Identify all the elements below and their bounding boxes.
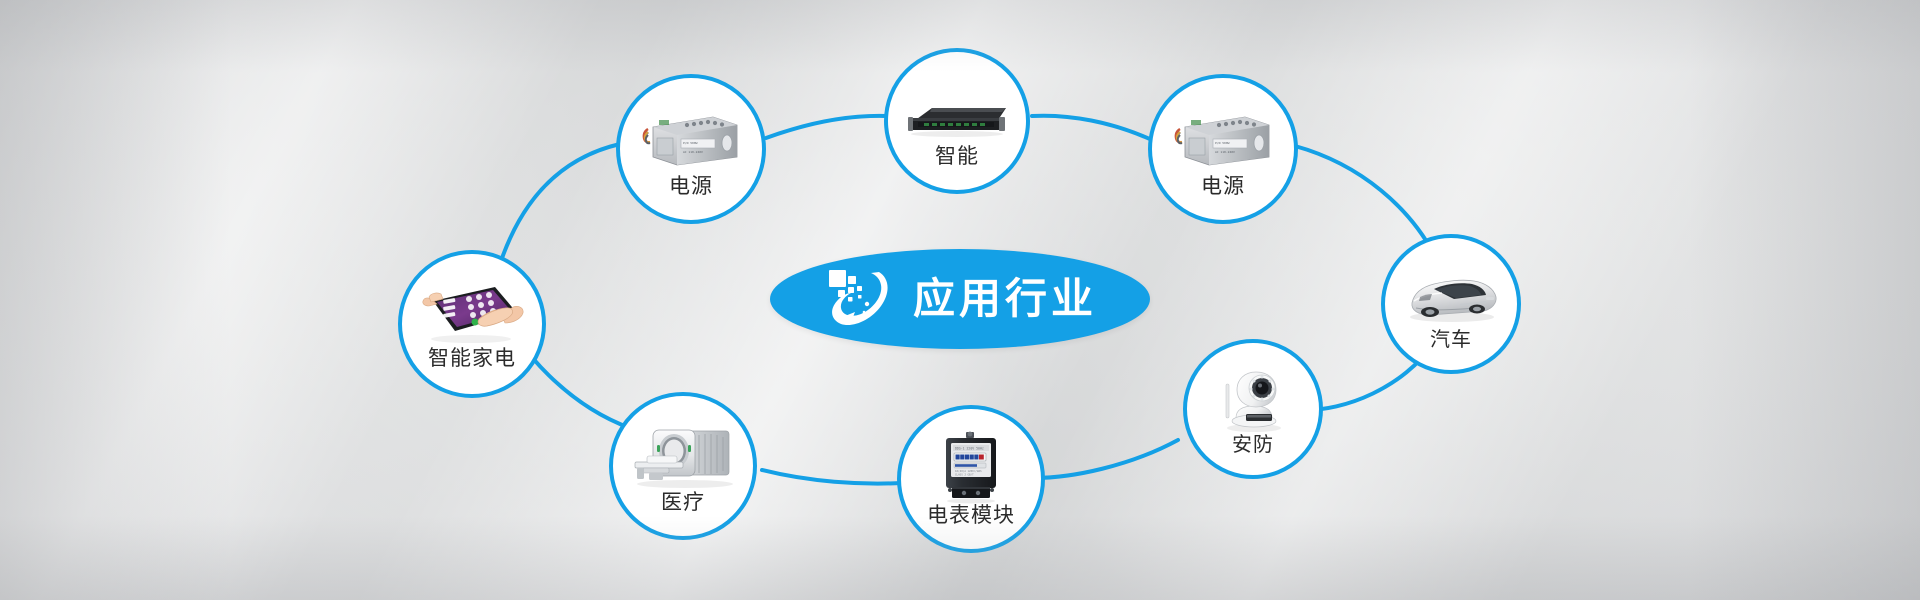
ct-scanner-icon	[613, 422, 753, 492]
svg-text:AC 110-240V: AC 110-240V	[683, 150, 703, 154]
orbit-pixel-logo-icon	[823, 264, 897, 334]
node-label: 智能家电	[428, 348, 516, 369]
node-automobile[interactable]: 汽车	[1381, 234, 1521, 374]
badge-title: 应用行业	[913, 278, 1097, 320]
svg-text:AC 110-240V: AC 110-240V	[1215, 150, 1235, 154]
link-meter-medical	[762, 470, 902, 484]
tablet-hand-icon	[402, 276, 542, 348]
node-smart-home[interactable]: 智能家电	[398, 250, 546, 398]
node-label: 医疗	[661, 492, 705, 513]
node-label: 电表模块	[927, 505, 1015, 526]
link-smarthome-powerleft	[498, 144, 620, 270]
svg-text:P/N 500W: P/N 500W	[683, 141, 698, 145]
node-power-left[interactable]: P/N 500W AC 110-240V 电源	[616, 74, 766, 224]
pc-power-supply-icon: P/N 500W AC 110-240V	[620, 104, 762, 176]
node-medical[interactable]: 医疗	[609, 392, 757, 540]
rack-server-icon	[888, 90, 1026, 146]
link-security-meter	[1034, 440, 1178, 478]
node-security[interactable]: 安防	[1183, 339, 1323, 479]
center-badge[interactable]: 应用行业	[770, 249, 1150, 349]
ip-camera-icon	[1187, 365, 1319, 435]
node-label: 电源	[669, 176, 713, 197]
svg-text:P/N 500W: P/N 500W	[1215, 141, 1230, 145]
node-power-right[interactable]: P/N 500W AC 110-240V 电源	[1148, 74, 1298, 224]
pc-power-supply-icon: P/N 500W AC 110-240V	[1152, 104, 1294, 176]
electricity-meter-icon: DDS-1 220V 50Hz 10(40)A 1200r/kWh CLASS …	[901, 429, 1041, 505]
node-meter-module[interactable]: DDS-1 220V 50Hz 10(40)A 1200r/kWh CLASS …	[897, 405, 1045, 553]
node-label: 电源	[1201, 176, 1245, 197]
node-label: 智能	[935, 146, 979, 167]
node-smart[interactable]: 智能	[884, 48, 1030, 194]
link-smart-powerright	[1032, 116, 1152, 140]
svg-text:CLASS 2 GB/T: CLASS 2 GB/T	[955, 473, 974, 477]
sports-car-icon	[1385, 264, 1517, 330]
application-industries-diagram: P/N 500W AC 110-240V 电源	[0, 0, 1920, 600]
node-label: 汽车	[1430, 330, 1472, 350]
svg-text:DDS-1 220V 50Hz: DDS-1 220V 50Hz	[955, 447, 984, 451]
svg-text:10(40)A 1200r/kWh: 10(40)A 1200r/kWh	[955, 469, 982, 473]
link-powerleft-smart	[766, 116, 886, 138]
node-label: 安防	[1232, 435, 1274, 455]
